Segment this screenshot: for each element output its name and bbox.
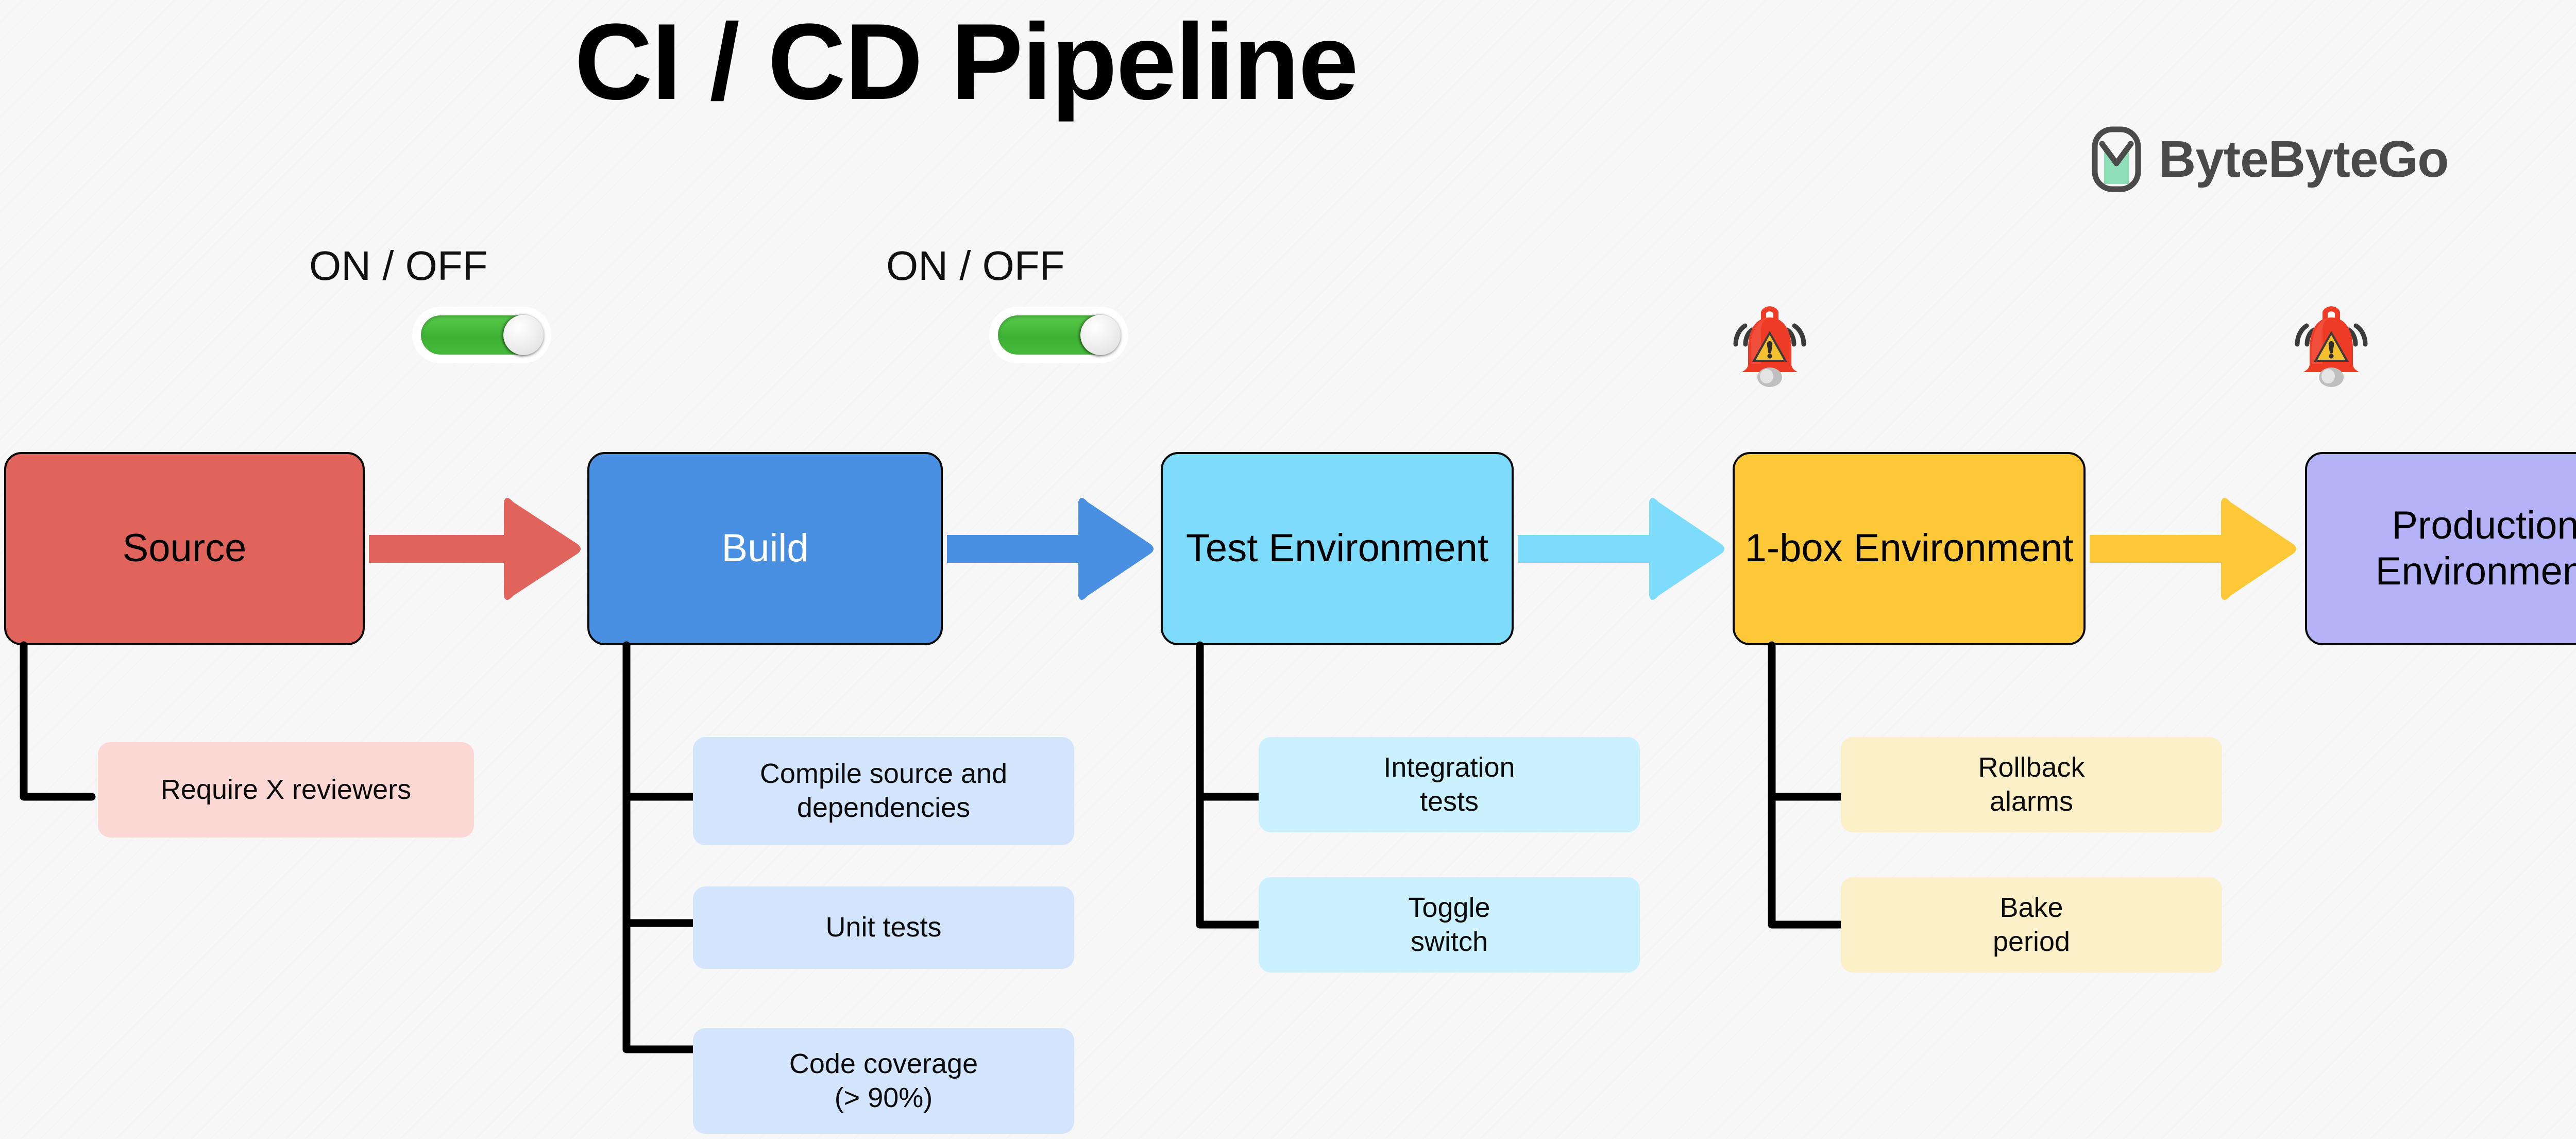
arrow-onebox-to-production (2090, 495, 2301, 603)
toggle-knob (503, 315, 544, 355)
arrow-test-to-onebox (1518, 495, 1729, 603)
sub-item-build-1[interactable]: Unit tests (693, 886, 1074, 969)
stage-label-onebox-environment: 1-box Environment (1745, 526, 2074, 571)
sub-item-label: Toggleswitch (1408, 891, 1490, 959)
sub-item-source-0[interactable]: Require X reviewers (98, 742, 474, 837)
production-alarm-bell-icon (2290, 299, 2372, 389)
onebox-alarm-bell-icon (1728, 299, 1811, 389)
stage-box-test-environment[interactable]: Test Environment (1161, 452, 1514, 645)
stage-label-source: Source (123, 526, 247, 571)
sub-item-onebox-1[interactable]: Bakeperiod (1841, 877, 2222, 973)
build-toggle-switch[interactable] (994, 312, 1123, 358)
stage-box-source[interactable]: Source (4, 452, 365, 645)
sub-item-test-1[interactable]: Toggleswitch (1259, 877, 1640, 973)
toggle-track (998, 315, 1120, 355)
stage-box-onebox-environment[interactable]: 1-box Environment (1733, 452, 2086, 645)
sub-item-label: Compile source anddependencies (760, 757, 1007, 825)
connector-build-subitems (603, 642, 757, 1085)
stage-label-build: Build (722, 526, 809, 571)
source-toggle-switch[interactable] (417, 312, 546, 358)
build-toggle-label: ON / OFF (886, 242, 1056, 290)
sub-item-label: Integrationtests (1383, 751, 1515, 819)
stage-label-test-environment: Test Environment (1186, 526, 1488, 571)
toggle-track (421, 315, 543, 355)
page-title: CI / CD Pipeline (0, 5, 1932, 119)
sub-item-label: Code coverage(> 90%) (789, 1047, 978, 1115)
sub-item-label: Require X reviewers (161, 773, 411, 807)
arrow-build-to-test (947, 495, 1158, 603)
toggle-knob (1080, 315, 1121, 355)
stage-box-build[interactable]: Build (587, 452, 943, 645)
sub-item-test-0[interactable]: Integrationtests (1259, 737, 1640, 832)
source-toggle-label: ON / OFF (309, 242, 479, 290)
sub-item-label: Unit tests (825, 911, 941, 945)
sub-item-build-0[interactable]: Compile source anddependencies (693, 737, 1074, 845)
arrow-source-to-build (369, 495, 585, 603)
stage-box-production-environment[interactable]: Production Environment (2305, 452, 2576, 645)
sub-item-label: Bakeperiod (1993, 891, 2070, 959)
sub-item-label: Rollbackalarms (1978, 751, 2084, 819)
sub-item-build-2[interactable]: Code coverage(> 90%) (693, 1028, 1074, 1134)
bytebytego-logo: ByteByteGo (2092, 126, 2448, 192)
bytebytego-logo-icon (2092, 126, 2141, 192)
bytebytego-wordmark: ByteByteGo (2159, 133, 2448, 185)
sub-item-onebox-0[interactable]: Rollbackalarms (1841, 737, 2222, 832)
stage-label-production-environment: Production Environment (2316, 503, 2576, 594)
